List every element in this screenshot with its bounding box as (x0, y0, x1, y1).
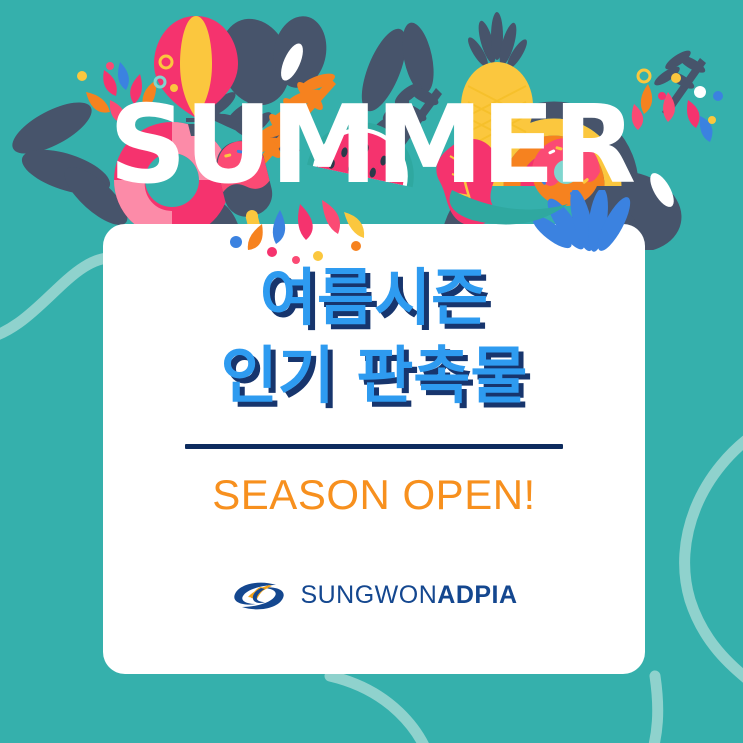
summer-wordmark: SUMMER (0, 92, 743, 200)
content-card: 여름시즌 인기 판촉물 SEASON OPEN! SUNGWONADPIA (103, 224, 645, 674)
subtitle: SEASON OPEN! (212, 471, 535, 519)
divider (185, 444, 563, 449)
sungwon-swoosh-icon (230, 579, 288, 613)
headline-line-2: 인기 판촉물 (221, 340, 528, 412)
logo-name-bold: ADPIA (437, 581, 517, 609)
logo-text: SUNGWONADPIA (300, 581, 517, 610)
headline-line-1: 여름시즌 (260, 262, 488, 334)
logo-name-light: SUNGWON (300, 581, 437, 609)
brand-logo: SUNGWONADPIA (230, 579, 517, 613)
poster-canvas: SUMMER 여름시즌 인기 판촉 (0, 0, 743, 743)
